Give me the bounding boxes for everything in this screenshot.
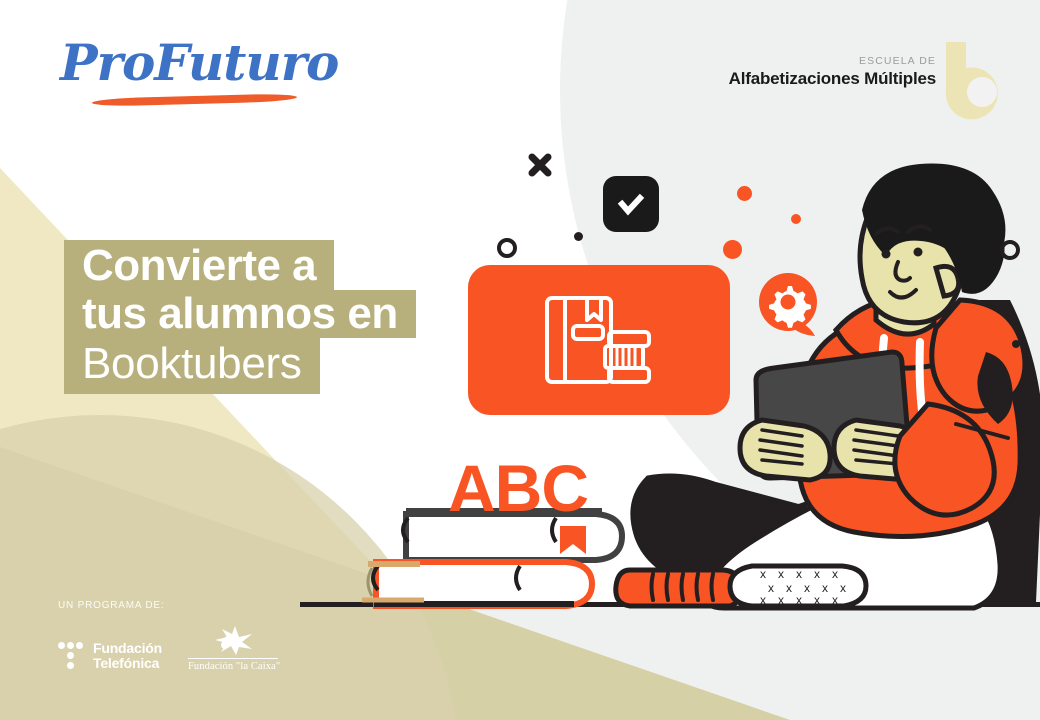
headline-row-1: Convierte a <box>64 240 416 290</box>
svg-text:x: x <box>814 567 820 581</box>
dot-orange-icon-3 <box>723 240 742 259</box>
gear-speech-bubble[interactable] <box>757 272 823 338</box>
books-card[interactable] <box>468 265 730 415</box>
lacaixa-star-icon <box>188 625 278 655</box>
profuturo-logo[interactable]: ProFuturo <box>60 38 340 110</box>
telefonica-name-line-2: Telefónica <box>93 656 162 672</box>
lacaixa-logo[interactable]: Fundación "la Caixa" <box>188 625 278 672</box>
circle-outline-icon-right <box>1000 240 1020 260</box>
svg-text:x: x <box>822 581 828 595</box>
slide-canvas: xxx xx xxx xx xxx xx <box>0 0 1040 720</box>
white-sneaker-icon: xxx xx xxx xx xxx xx <box>730 566 866 607</box>
page-title: Convierte a tus alumnos en Booktubers <box>64 240 416 394</box>
abc-label: ABC <box>448 455 588 521</box>
telefonica-wordmark: Fundación Telefónica <box>93 641 162 672</box>
x-mark-icon <box>527 152 553 178</box>
escuela-title: Alfabetizaciones Múltiples <box>729 68 936 89</box>
footer-label: UN PROGRAMA DE: <box>58 600 358 611</box>
svg-text:x: x <box>778 567 784 581</box>
headline-row-2: tus alumnos en <box>64 290 416 338</box>
lacaixa-wordmark: Fundación "la Caixa" <box>188 661 278 672</box>
headline-line-1: Convierte a <box>64 240 334 290</box>
dot-orange-icon-2 <box>791 214 801 224</box>
lacaixa-divider <box>188 658 278 659</box>
checkmark-badge <box>603 176 659 232</box>
circle-outline-icon <box>497 238 517 258</box>
svg-text:x: x <box>796 593 802 607</box>
svg-text:x: x <box>804 581 810 595</box>
svg-text:x: x <box>760 593 766 607</box>
telefonica-name-line-1: Fundación <box>93 641 162 657</box>
footer: UN PROGRAMA DE: Fundación Telefónica <box>58 600 358 672</box>
svg-text:x: x <box>778 593 784 607</box>
dot-black-icon-right <box>1012 340 1020 348</box>
dot-black-icon <box>574 232 583 241</box>
svg-text:x: x <box>786 581 792 595</box>
books-line-icon <box>543 290 655 390</box>
svg-text:x: x <box>796 567 802 581</box>
headline-line-3: Booktubers <box>64 338 320 394</box>
telefonica-logo[interactable]: Fundación Telefónica <box>58 641 162 672</box>
escuela-logo[interactable]: ESCUELA DE Alfabetizaciones Múltiples <box>729 40 1018 120</box>
stacked-books-icon <box>362 512 622 606</box>
svg-text:x: x <box>832 567 838 581</box>
telefonica-dots-icon <box>58 641 84 671</box>
svg-text:x: x <box>832 593 838 607</box>
footer-sponsor-logos: Fundación Telefónica Fundación "la Caixa… <box>58 625 358 672</box>
svg-text:x: x <box>814 593 820 607</box>
svg-text:x: x <box>840 581 846 595</box>
checkmark-icon <box>616 189 646 219</box>
escuela-eyebrow: ESCUELA DE <box>729 55 936 68</box>
svg-text:x: x <box>768 581 774 595</box>
svg-text:x: x <box>760 567 766 581</box>
headline-line-2: tus alumnos en <box>64 290 416 338</box>
letter-b-logo-icon <box>940 40 1018 120</box>
headline-row-3: Booktubers <box>64 338 416 394</box>
orange-sneaker-icon <box>616 570 741 606</box>
escuela-text-block: ESCUELA DE Alfabetizaciones Múltiples <box>729 40 940 89</box>
profuturo-wordmark: ProFuturo <box>60 38 340 88</box>
orange-swoosh-icon <box>92 93 297 107</box>
dot-orange-icon-1 <box>737 186 752 201</box>
